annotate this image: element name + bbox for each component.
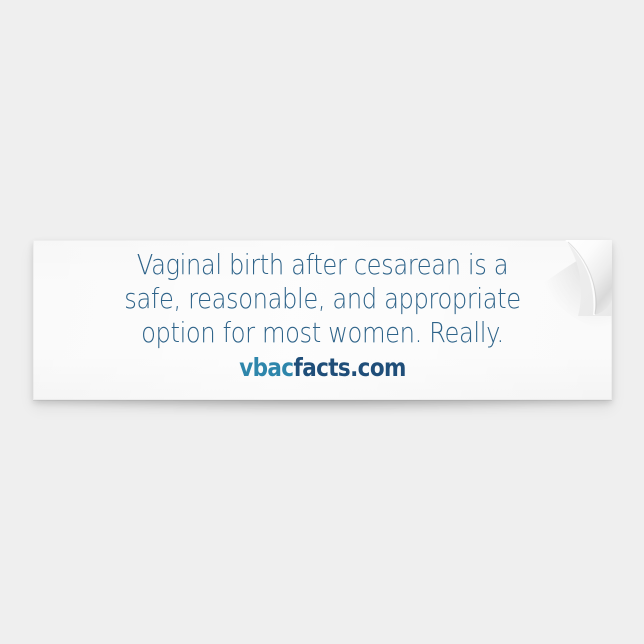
sticker-text-block: Vaginal birth after cesarean is a safe, …	[33, 248, 612, 382]
bumper-sticker[interactable]: Vaginal birth after cesarean is a safe, …	[33, 240, 612, 400]
vbacfacts-logo[interactable]: vbacfacts.com	[74, 354, 572, 382]
logo-prefix: vbac	[239, 353, 293, 382]
sticker-line-1: Vaginal birth after cesarean is a	[68, 248, 578, 282]
sticker-line-2: safe, reasonable, and appropriate	[68, 282, 578, 316]
sticker-canvas: Vaginal birth after cesarean is a safe, …	[0, 0, 644, 644]
logo-suffix: facts.com	[293, 353, 405, 382]
sticker-line-3: option for most women. Really.	[68, 316, 578, 350]
